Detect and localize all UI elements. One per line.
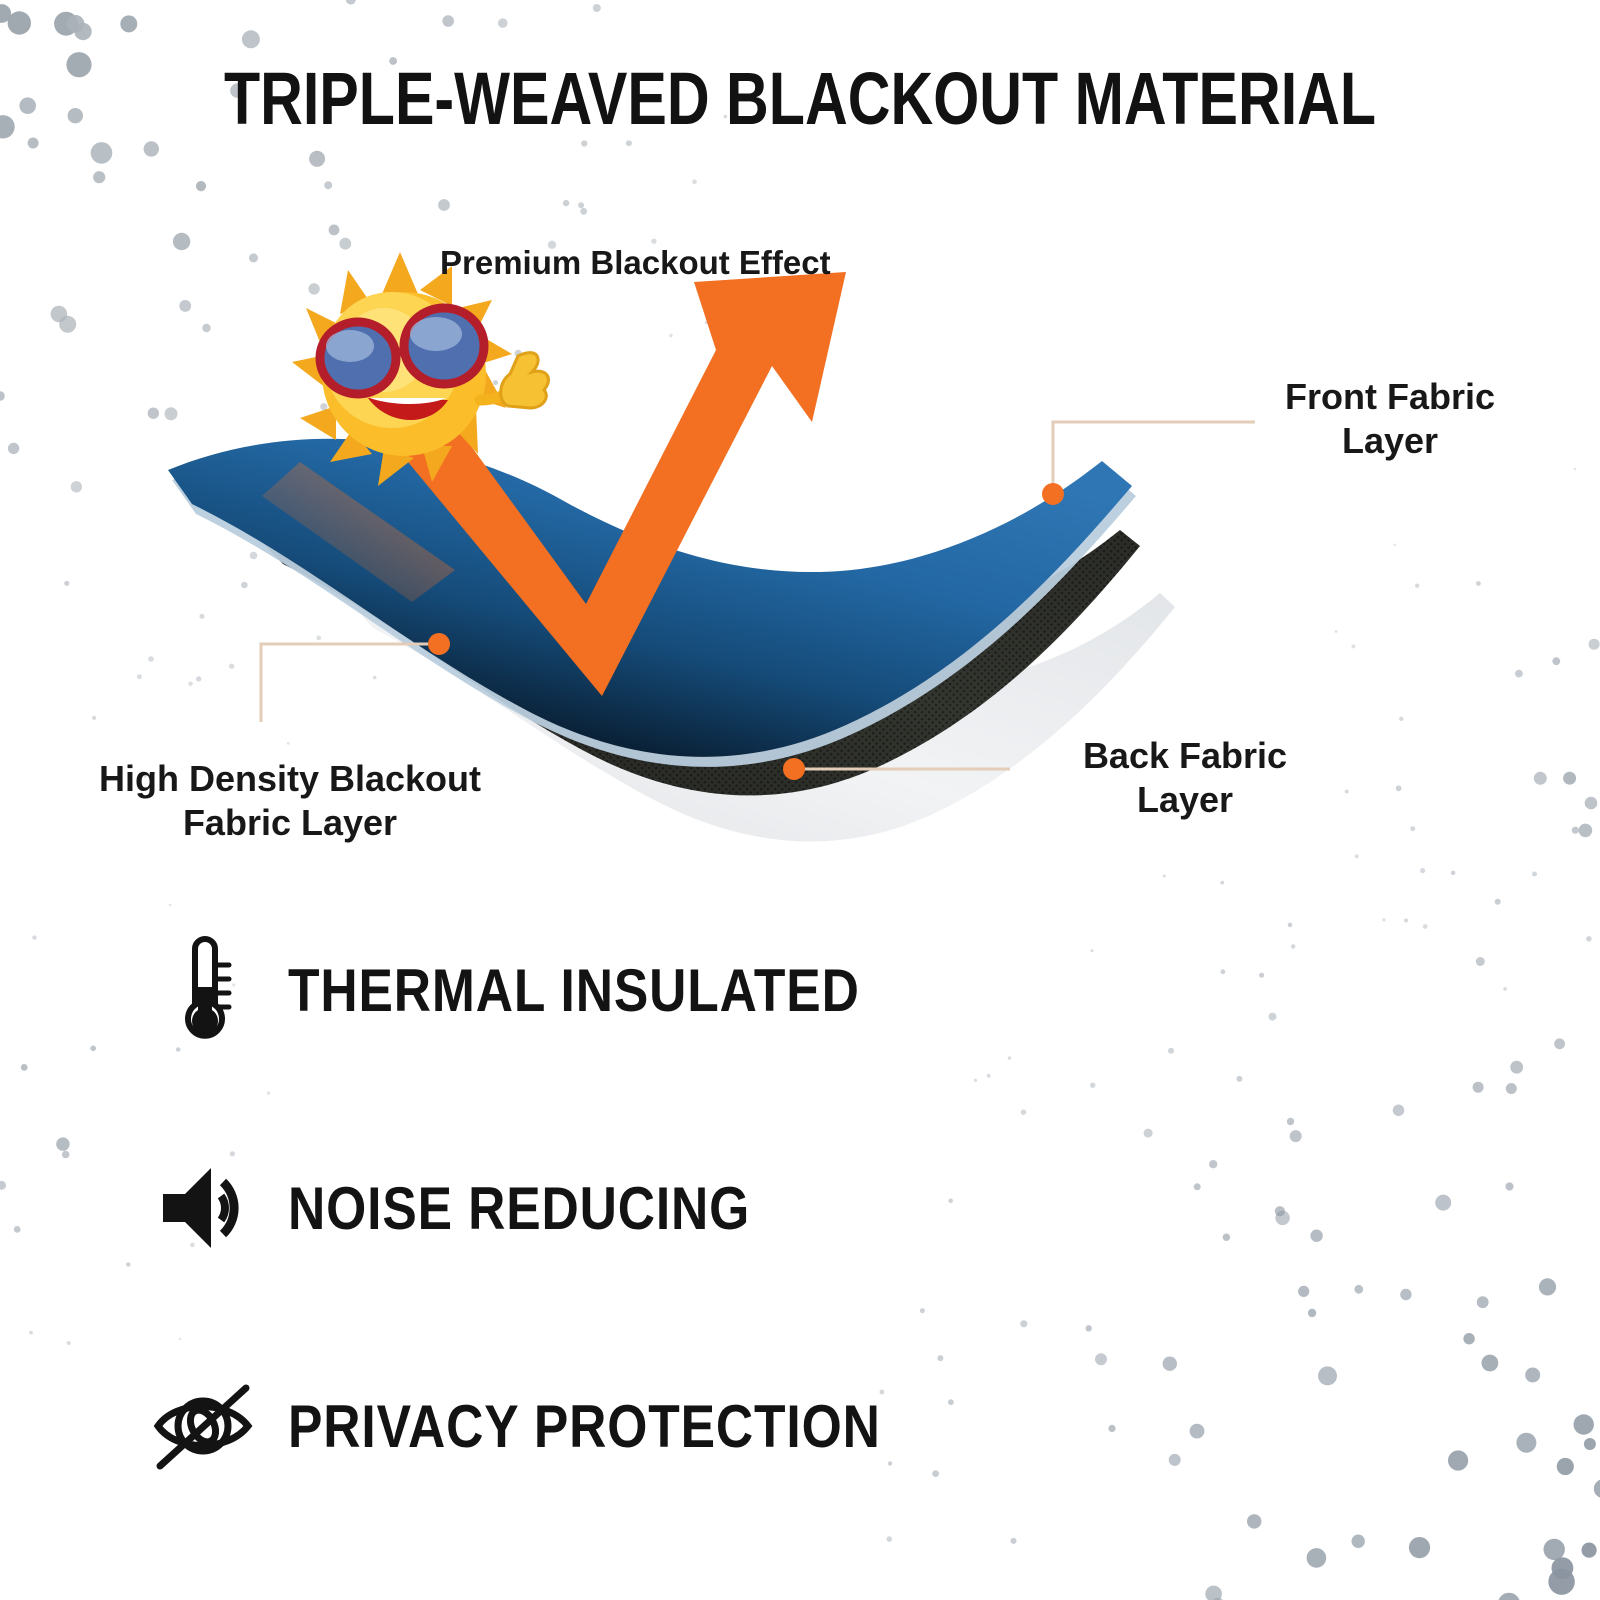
callout-label-back-fabric-layer: Back Fabric Layer [1020,734,1350,822]
feature-label-wrap-thermal: THERMAL INSULATED [288,930,953,1050]
infographic-page: TRIPLE-WEAVED BLACKOUT MATERIAL [0,0,1600,1600]
callout-label-line2: Fabric Layer [183,802,397,843]
feature-item-noise-reducing: NOISE REDUCING NOISE REDUCING [0,1148,1600,1366]
feature-label-thermal-insulated: THERMAL INSULATED [288,956,860,1025]
callout-label-front-fabric-layer: Front Fabric Layer [1225,375,1555,463]
feature-item-privacy-protection: PRIVACY PROTECTION PRIVACY PROTECTION [0,1366,1600,1584]
callout-label-line2: Layer [1137,779,1233,820]
callout-label-line2: Layer [1342,420,1438,461]
speaker-volume-icon [150,1148,260,1268]
eye-slash-icon [150,1366,260,1486]
feature-label-noise-reducing: NOISE REDUCING [288,1174,750,1243]
page-title: TRIPLE-WEAVED BLACKOUT MATERIAL [160,62,1440,136]
callout-label-high-density-blackout-fabric-layer: High Density Blackout Fabric Layer [40,757,540,845]
callout-label-line1: High Density Blackout [99,758,481,799]
feature-label-privacy-protection: PRIVACY PROTECTION [288,1392,881,1461]
feature-list: THERMAL INSULATED THERMAL INSULATED [0,930,1600,1584]
feature-label-wrap-noise: NOISE REDUCING [288,1148,825,1268]
thermometer-icon [150,930,260,1050]
feature-item-thermal-insulated: THERMAL INSULATED THERMAL INSULATED [0,930,1600,1148]
callout-label-line1: Front Fabric [1285,376,1495,417]
callout-label-premium-blackout-effect: Premium Blackout Effect [440,243,910,283]
callout-label-line1: Back Fabric [1083,735,1287,776]
feature-label-wrap-privacy: PRIVACY PROTECTION [288,1366,977,1486]
